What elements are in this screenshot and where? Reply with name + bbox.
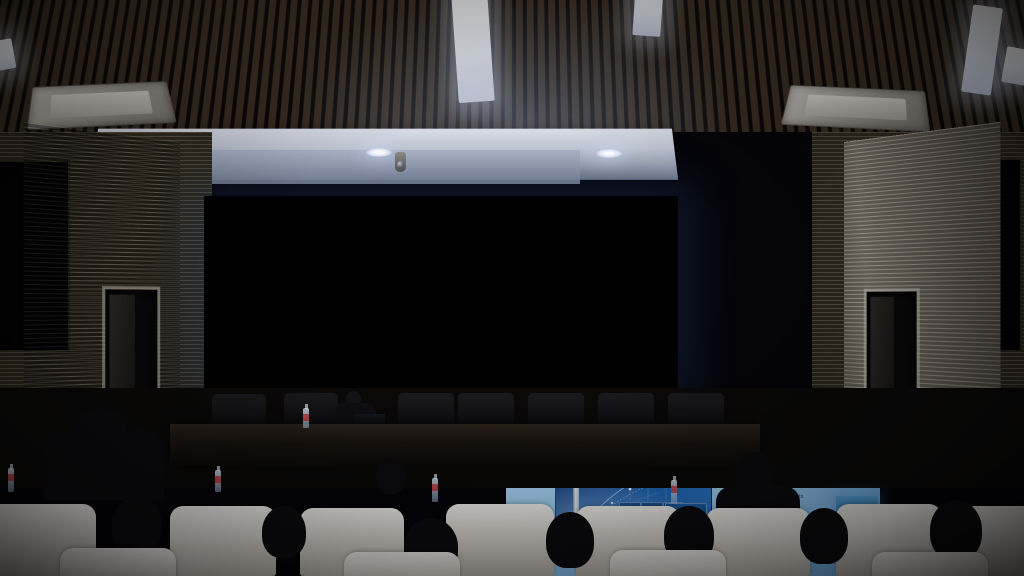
audience-head	[112, 496, 162, 554]
projection-screen: Motivation: Rocket Trajectory Optimal Co…	[204, 196, 678, 392]
ceiling-ac-unit	[27, 81, 177, 130]
lecture-hall-photo: Motivation: Rocket Trajectory Optimal Co…	[0, 0, 1024, 576]
presenter-chair	[212, 394, 266, 428]
presenter-chair	[458, 393, 514, 428]
presenter-table	[170, 424, 760, 466]
presenter-chair	[598, 393, 654, 428]
audience-head	[546, 512, 594, 568]
presenter-chair	[528, 393, 584, 428]
water-bottle	[8, 468, 14, 492]
recessed-downlight	[366, 148, 392, 157]
audience-seat	[344, 552, 460, 576]
presenter-chair	[668, 393, 724, 428]
soffit-recess	[150, 150, 580, 184]
water-bottle	[303, 408, 309, 428]
ceiling	[0, 0, 1024, 132]
ceiling-ac-unit	[780, 85, 930, 132]
audience-head	[930, 500, 982, 560]
audience-head	[74, 408, 126, 448]
audience-seat	[610, 550, 726, 576]
water-bottle	[432, 478, 438, 502]
audience-head	[800, 508, 848, 564]
audience-head	[376, 458, 406, 494]
audience-seat	[872, 552, 988, 576]
presenter-chair	[284, 393, 338, 428]
fluorescent-tube-panel	[451, 0, 494, 103]
fluorescent-tube-panel	[632, 0, 663, 37]
water-bottle	[671, 480, 677, 504]
audience-head	[262, 506, 306, 558]
ceiling-light-wash	[300, 0, 730, 132]
audience-seat	[170, 506, 276, 576]
presenter-chair	[398, 393, 454, 428]
ceiling-security-camera	[395, 152, 406, 172]
audience-seat	[446, 504, 554, 576]
recessed-downlight	[596, 149, 622, 158]
water-bottle	[215, 470, 221, 492]
audience-seat	[60, 548, 176, 576]
